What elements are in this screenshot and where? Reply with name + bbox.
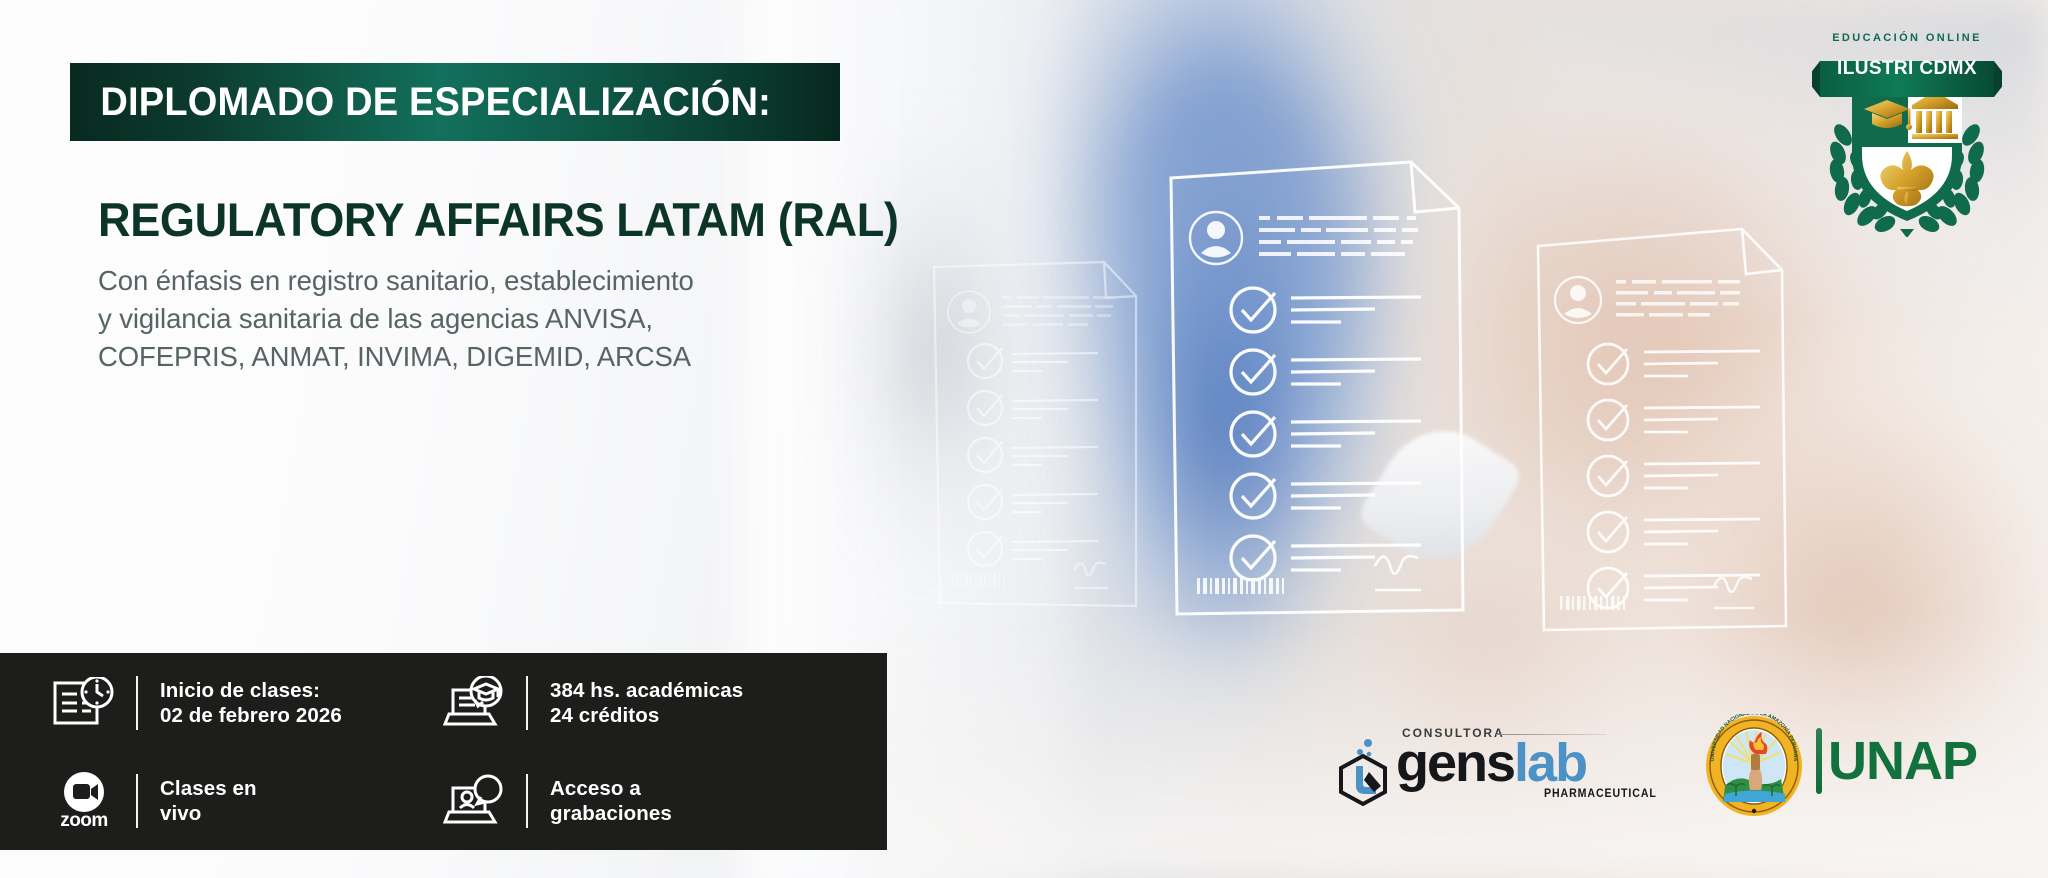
- crest-tagline: EDUCACIÓN ONLINE: [1812, 32, 2002, 44]
- unap-acronym: UNAP: [1828, 730, 1977, 792]
- crest-ribbon-text: ILUSTRI CDMX: [1812, 58, 2002, 80]
- kicker-banner: DIPLOMADO DE ESPECIALIZACIÓN:: [70, 63, 840, 141]
- info-item-text: Acceso a grabaciones: [550, 776, 672, 826]
- checklist-document-right: [1528, 224, 1798, 634]
- page-subtitle: Con énfasis en registro sanitario, estab…: [98, 262, 694, 376]
- divider: [526, 676, 528, 730]
- genslab-tagline: PHARMACEUTICAL: [1544, 788, 1657, 800]
- laptop-person-icon: [440, 771, 508, 831]
- checklist-document-left: [922, 258, 1152, 610]
- zoom-camera-icon: zoom: [50, 771, 118, 831]
- info-item-text: 384 hs. académicas 24 créditos: [550, 678, 743, 728]
- divider: [526, 774, 528, 828]
- info-item-hours-credits: 384 hs. académicas 24 créditos: [430, 654, 887, 752]
- genslab-mark-icon: [1336, 738, 1394, 810]
- unap-logo: UNIVERSIDAD NACIONAL DE LA AMAZONÍA PERU…: [1700, 714, 2000, 818]
- info-item-start-date: Inicio de clases: 02 de febrero 2026: [0, 654, 430, 752]
- info-item-live-classes: zoom Clases en vivo: [0, 752, 430, 850]
- kicker-text: DIPLOMADO DE ESPECIALIZACIÓN:: [70, 80, 771, 125]
- genslab-wordmark: genslab: [1396, 732, 1586, 794]
- genslab-word-gens: gens: [1396, 733, 1514, 793]
- divider: [136, 774, 138, 828]
- page-title: REGULATORY AFFAIRS LATAM (RAL): [98, 192, 899, 247]
- info-item-recordings: Acceso a grabaciones: [430, 752, 887, 850]
- info-item-text: Clases en vivo: [160, 776, 257, 826]
- zoom-wordmark: zoom: [60, 810, 108, 831]
- laptop-graduation-icon: [440, 673, 508, 733]
- divider: [136, 676, 138, 730]
- promotional-banner: DIPLOMADO DE ESPECIALIZACIÓN: REGULATORY…: [0, 0, 2048, 878]
- unap-divider: [1816, 728, 1822, 794]
- genslab-word-lab: lab: [1514, 733, 1586, 793]
- checklist-document-center: [1163, 158, 1473, 618]
- info-item-text: Inicio de clases: 02 de febrero 2026: [160, 678, 342, 728]
- calendar-clock-icon: [50, 673, 118, 733]
- genslab-logo: CONSULTORA genslab PHARMACEUTICAL: [1336, 722, 1636, 808]
- info-bar: Inicio de clases: 02 de febrero 2026: [0, 653, 887, 850]
- unap-seal-icon: UNIVERSIDAD NACIONAL DE LA AMAZONÍA PERU…: [1700, 714, 1808, 818]
- ilustri-cdmx-crest: EDUCACIÓN ONLINE: [1812, 32, 2002, 242]
